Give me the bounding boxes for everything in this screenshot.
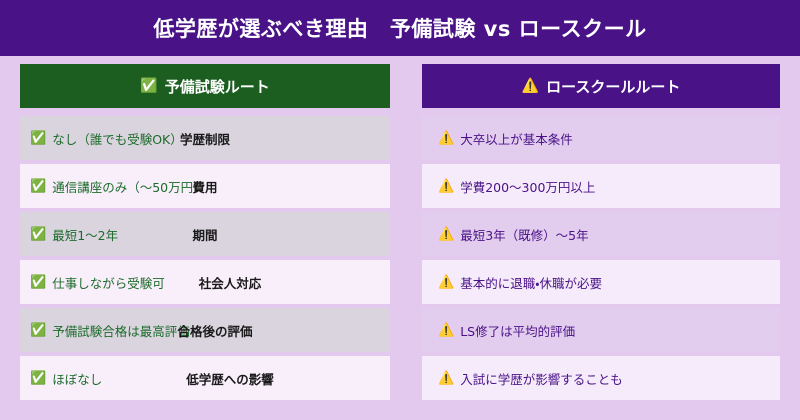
check-mark-button-icon: ✅ (30, 132, 46, 145)
row-cell-right-text: LS修了は平均的評価 (460, 321, 575, 340)
row-cell-divider (390, 164, 422, 208)
row-cell-left-text: 最短1〜2年 (52, 225, 118, 244)
check-mark-button-icon: ✅ (30, 276, 46, 289)
row-cell-right: ⚠️ 基本的に退職・休職が必要 (422, 260, 780, 304)
warning-icon: ⚠️ (438, 228, 454, 241)
check-mark-button-icon: ✅ (140, 78, 157, 94)
warning-icon: ⚠️ (438, 180, 454, 193)
column-header-yobi-shiken: ✅ 予備試験ルート (20, 64, 390, 108)
table-row: ✅ 通信講座のみ（〜50万円） ⚠️ 学費200〜300万円以上 費用 (20, 164, 780, 208)
row-cell-left-text: なし（誰でも受験OK） (52, 129, 183, 148)
table-row: ✅ 最短1〜2年 ⚠️ 最短3年（既修）〜5年 期間 (20, 212, 780, 256)
row-cell-divider (390, 260, 422, 304)
row-cell-right-text: 学費200〜300万円以上 (460, 177, 595, 196)
column-header-law-school: ⚠️ ロースクールルート (422, 64, 780, 108)
table-header-row: ✅ 予備試験ルート ⚠️ ロースクールルート (20, 64, 780, 108)
row-cell-left: ✅ 予備試験合格は最高評価 (20, 308, 390, 352)
column-header-right-label: ロースクールルート (546, 76, 680, 97)
row-cell-left-text: 仕事しながら受験可 (52, 273, 165, 292)
check-mark-button-icon: ✅ (30, 324, 46, 337)
table-row: ✅ なし（誰でも受験OK） ⚠️ 大卒以上が基本条件 学歴制限 (20, 116, 780, 160)
row-cell-divider (390, 116, 422, 160)
check-mark-button-icon: ✅ (30, 228, 46, 241)
column-header-left-label: 予備試験ルート (165, 76, 270, 97)
warning-icon: ⚠️ (438, 372, 454, 385)
comparison-infographic: 低学歴が選ぶべき理由 予備試験 vs ロースクール ✅ 予備試験ルート ⚠️ ロ… (0, 0, 800, 420)
column-header-divider (390, 64, 422, 108)
row-cell-right-text: 大卒以上が基本条件 (460, 129, 573, 148)
comparison-table: ✅ 予備試験ルート ⚠️ ロースクールルート ✅ なし（誰でも受験OK） ⚠️ … (20, 64, 780, 402)
row-cell-right-text: 基本的に退職・休職が必要 (460, 273, 602, 292)
row-cell-right: ⚠️ 入試に学歴が影響することも (422, 356, 780, 400)
row-cell-left: ✅ なし（誰でも受験OK） (20, 116, 390, 160)
warning-icon: ⚠️ (438, 132, 454, 145)
row-cell-right-text: 最短3年（既修）〜5年 (460, 225, 588, 244)
row-cell-right: ⚠️ 学費200〜300万円以上 (422, 164, 780, 208)
row-cell-left-text: 通信講座のみ（〜50万円） (52, 177, 205, 196)
row-cell-left: ✅ 通信講座のみ（〜50万円） (20, 164, 390, 208)
row-cell-left-text: ほぼなし (52, 369, 102, 388)
row-cell-right: ⚠️ 最短3年（既修）〜5年 (422, 212, 780, 256)
row-cell-right-text: 入試に学歴が影響することも (460, 369, 623, 388)
table-row: ✅ 予備試験合格は最高評価 ⚠️ LS修了は平均的評価 合格後の評価 (20, 308, 780, 352)
table-row: ✅ 仕事しながら受験可 ⚠️ 基本的に退職・休職が必要 社会人対応 (20, 260, 780, 304)
row-cell-left: ✅ ほぼなし (20, 356, 390, 400)
check-mark-button-icon: ✅ (30, 372, 46, 385)
warning-icon: ⚠️ (438, 324, 454, 337)
page-title: 低学歴が選ぶべき理由 予備試験 vs ロースクール (153, 13, 646, 43)
row-cell-left-text: 予備試験合格は最高評価 (52, 321, 190, 340)
warning-icon: ⚠️ (438, 276, 454, 289)
row-cell-left: ✅ 最短1〜2年 (20, 212, 390, 256)
row-cell-right: ⚠️ LS修了は平均的評価 (422, 308, 780, 352)
row-cell-left: ✅ 仕事しながら受験可 (20, 260, 390, 304)
title-bar: 低学歴が選ぶべき理由 予備試験 vs ロースクール (0, 0, 800, 56)
check-mark-button-icon: ✅ (30, 180, 46, 193)
warning-icon: ⚠️ (522, 78, 539, 94)
row-cell-divider (390, 212, 422, 256)
row-cell-divider (390, 356, 422, 400)
row-cell-right: ⚠️ 大卒以上が基本条件 (422, 116, 780, 160)
row-cell-divider (390, 308, 422, 352)
table-row: ✅ ほぼなし ⚠️ 入試に学歴が影響することも 低学歴への影響 (20, 356, 780, 400)
